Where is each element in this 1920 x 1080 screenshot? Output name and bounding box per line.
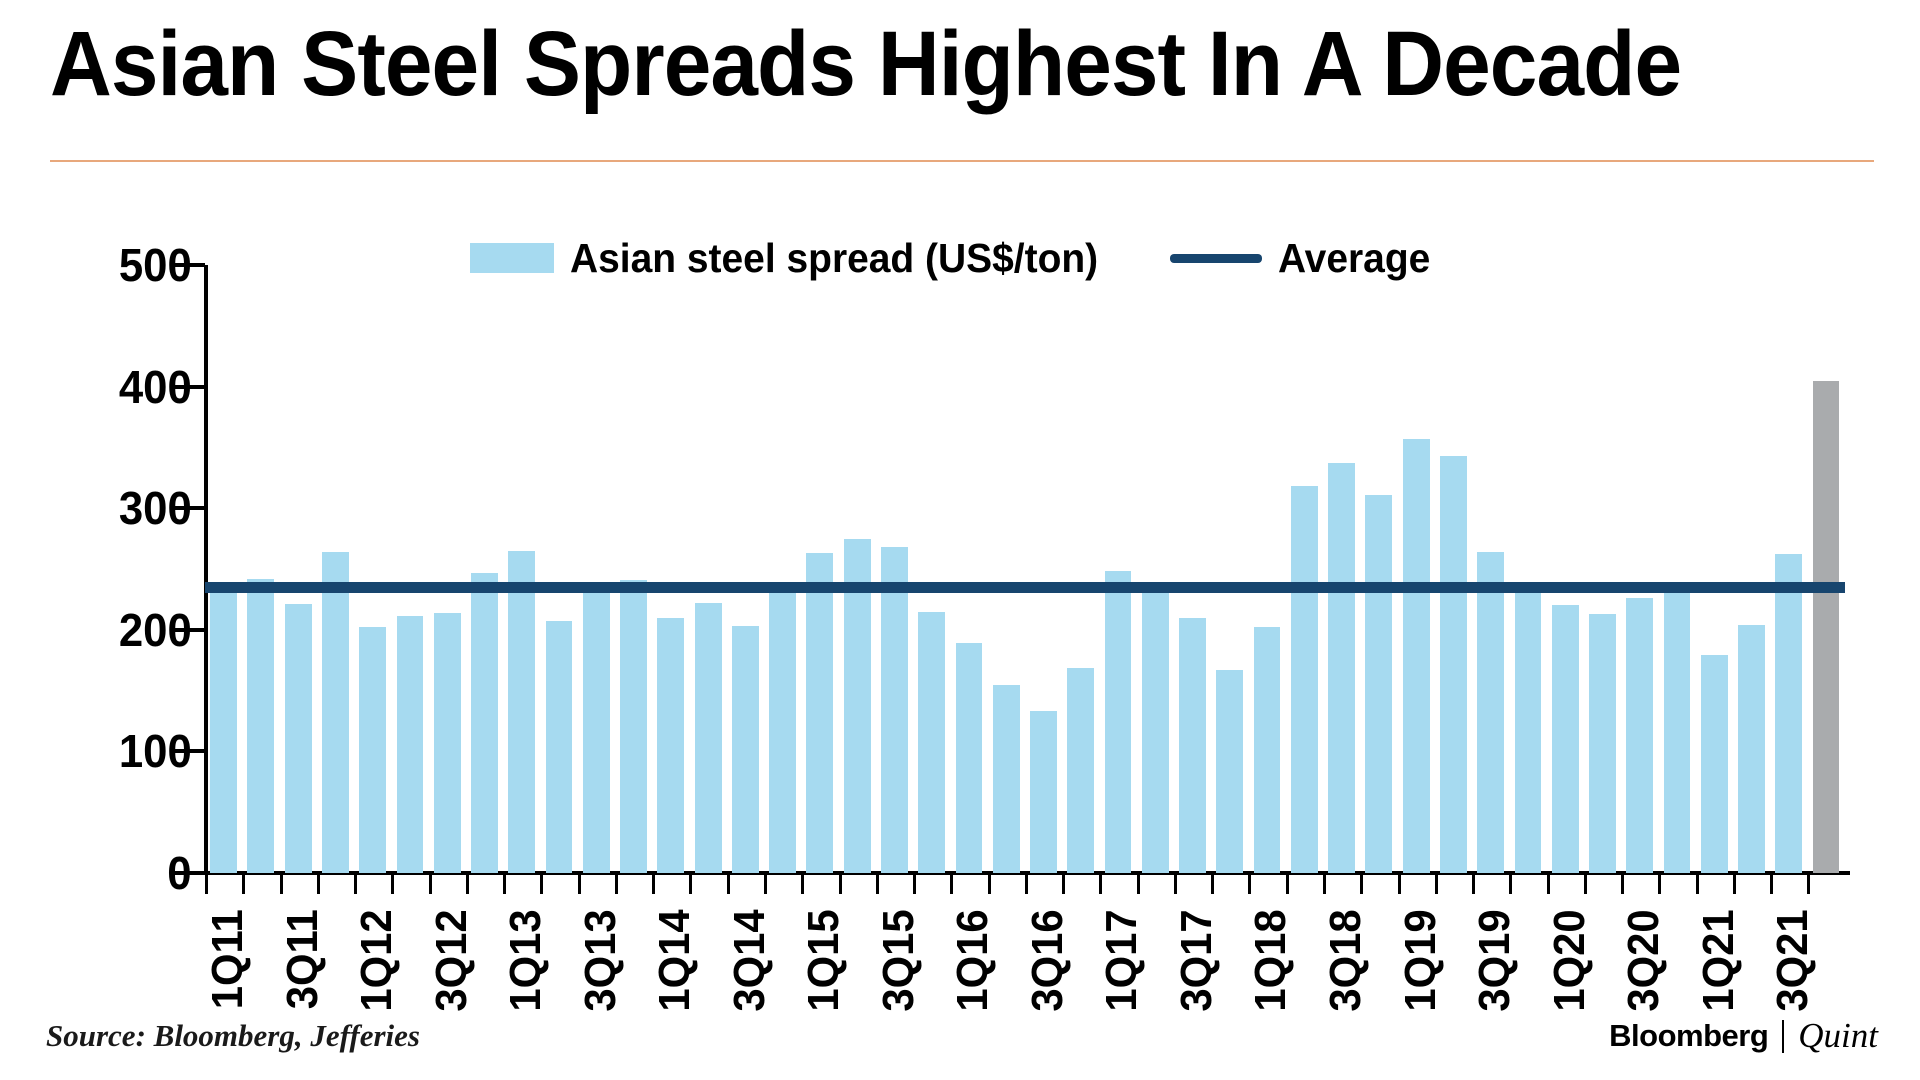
x-axis-tick-mark [652,875,655,894]
x-axis-tick-cell [876,875,913,895]
x-axis-tick-cell [1770,875,1807,895]
bar-cell [1509,265,1546,873]
x-axis-tick-mark [1062,875,1065,894]
bar-cell [1472,265,1509,873]
title-divider [50,160,1874,162]
bar [1440,456,1467,873]
brand-quint-text: Quint [1798,1016,1878,1056]
x-axis-tick-cell [1584,875,1621,895]
bar-cell [1248,265,1285,873]
bar [1216,670,1243,873]
y-axis-tick-mark [172,263,205,267]
x-axis-tick-cell [988,875,1025,895]
x-axis-tick-mark [1323,875,1326,894]
bar [1067,668,1094,874]
bar [956,643,983,873]
x-axis-tick-mark [1248,875,1251,894]
x-axis-tick-cell [727,875,764,895]
x-axis-tick-mark [1174,875,1177,894]
x-axis-tick-mark [1211,875,1214,894]
x-axis-tick-cell [1658,875,1695,895]
x-axis-label-cell [1435,898,1472,1048]
x-axis-label-cell: 3Q16 [1025,898,1062,1048]
x-axis-ticks [205,875,1845,895]
x-axis-tick-cell [578,875,615,895]
x-axis-tick-mark [1509,875,1512,894]
x-axis-tick-mark [1286,875,1289,894]
bar-cell [1323,265,1360,873]
bar [1328,463,1355,873]
x-axis-label-cell: 3Q18 [1323,898,1360,1048]
x-axis-label-cell [1360,898,1397,1048]
x-axis-tick-cell [764,875,801,895]
x-axis-tick-mark [1584,875,1587,894]
x-axis-tick-cell [205,875,242,895]
x-axis-tick-cell [1062,875,1099,895]
x-axis-label-cell: 1Q17 [1099,898,1136,1048]
x-axis-tick-cell [1323,875,1360,895]
bar [620,580,647,873]
bar-cell [1547,265,1584,873]
bar [1738,625,1765,873]
bar [1775,554,1802,873]
x-axis-tick-mark [1472,875,1475,894]
bar-cell [727,265,764,873]
x-axis-tick-cell [1621,875,1658,895]
bar [1142,593,1169,873]
x-axis-tick-cell [1174,875,1211,895]
x-axis-tick-mark [839,875,842,894]
bar-cell [839,265,876,873]
x-axis-tick-cell [503,875,540,895]
x-axis-tick-cell [1733,875,1770,895]
brand-divider [1782,1020,1784,1053]
x-axis-label-cell [466,898,503,1048]
x-axis-tick-cell [1696,875,1733,895]
x-axis-tick-cell [689,875,726,895]
x-axis-tick-cell [429,875,466,895]
bar-cell [1099,265,1136,873]
x-axis-label-cell [1062,898,1099,1048]
bar-cell [205,265,242,873]
x-axis-tick-mark [1621,875,1624,894]
x-axis-label-cell: 1Q18 [1248,898,1285,1048]
bar-cell [391,265,428,873]
x-axis-tick-cell [1211,875,1248,895]
bar [1515,591,1542,873]
y-axis-tick-mark [172,749,205,753]
source-note: Source: Bloomberg, Jefferies [46,1018,420,1054]
x-axis-tick-mark [242,875,245,894]
x-axis-tick-cell [1248,875,1285,895]
x-axis-tick-cell [1398,875,1435,895]
bar-cell [242,265,279,873]
bar-cell [1435,265,1472,873]
x-axis-tick-cell [1547,875,1584,895]
x-axis-tick-mark [540,875,543,894]
bar-cell [578,265,615,873]
chart-area: 0100200300400500 1Q113Q111Q123Q121Q133Q1… [0,250,1920,950]
brand-logo: Bloomberg Quint [1609,1016,1878,1056]
x-axis-tick-mark [1733,875,1736,894]
x-axis-tick-mark [1770,875,1773,894]
x-axis-tick-mark [1547,875,1550,894]
title-block: Asian Steel Spreads Highest In A Decade [50,12,1880,116]
x-axis-tick-mark [1658,875,1661,894]
bar-cell [876,265,913,873]
bar-cell [1398,265,1435,873]
x-axis-tick-mark [354,875,357,894]
brand-bloomberg-text: Bloomberg [1609,1018,1768,1054]
bar [732,626,759,873]
x-axis-tick-cell [1360,875,1397,895]
bar [1589,614,1616,873]
bar [210,584,237,873]
x-axis-tick-cell [652,875,689,895]
chart-page: Asian Steel Spreads Highest In A Decade … [0,0,1920,1080]
x-axis-tick-cell [391,875,428,895]
x-axis-tick-cell [1286,875,1323,895]
bar [1403,439,1430,873]
bar-cell [950,265,987,873]
bar-cell [1286,265,1323,873]
bar [1105,571,1132,873]
bar-cell [466,265,503,873]
bar-cell [280,265,317,873]
x-axis-label-cell: 3Q12 [429,898,466,1048]
x-axis-tick-mark [280,875,283,894]
bar-series [205,265,1845,873]
x-axis-tick-mark [1435,875,1438,894]
bar-cell [1696,265,1733,873]
bar [1291,486,1318,873]
x-axis-tick-mark [1398,875,1401,894]
bar-cell [1733,265,1770,873]
bar [285,604,312,873]
bar [993,685,1020,873]
x-axis-tick-cell [540,875,577,895]
x-axis-tick-cell [242,875,279,895]
x-axis-label-cell: 1Q13 [503,898,540,1048]
average-line [205,582,1845,593]
page-title: Asian Steel Spreads Highest In A Decade [50,12,1752,116]
x-axis-tick-mark [1025,875,1028,894]
x-axis-label-cell [540,898,577,1048]
x-axis-tick-cell [1472,875,1509,895]
bar [918,612,945,873]
x-axis-tick-mark [317,875,320,894]
bar [769,592,796,873]
x-axis-label-cell: 1Q19 [1398,898,1435,1048]
x-axis-tick-mark [1807,875,1810,894]
bar [1254,627,1281,873]
bar-cell [1174,265,1211,873]
bar [322,552,349,873]
x-axis-label-cell: 1Q15 [801,898,838,1048]
y-axis-tick-mark [172,628,205,632]
x-axis-label-cell: 1Q14 [652,898,689,1048]
bar-cell [1770,265,1807,873]
x-axis-label-cell: 1Q20 [1547,898,1584,1048]
bar-cell [354,265,391,873]
bar-cell [1584,265,1621,873]
bar-cell [652,265,689,873]
x-axis-tick-cell [466,875,503,895]
x-axis-label-cell: 3Q13 [578,898,615,1048]
x-axis-tick-mark [205,875,208,894]
x-axis-tick-mark [913,875,916,894]
x-axis-tick-mark [1696,875,1699,894]
bar-cell [1025,265,1062,873]
x-axis-tick-cell [913,875,950,895]
x-axis-tick-mark [578,875,581,894]
bar-cell [1360,265,1397,873]
x-axis-tick-cell [1025,875,1062,895]
bar-cell [764,265,801,873]
x-axis-tick-mark [727,875,730,894]
x-axis-label-cell [1509,898,1546,1048]
bar [359,627,386,873]
bar-cell [689,265,726,873]
y-axis-tick-mark [172,385,205,389]
bar-cell [1658,265,1695,873]
x-axis-tick-mark [764,875,767,894]
x-axis-tick-cell [1509,875,1546,895]
x-axis-tick-cell [1435,875,1472,895]
x-axis-tick-cell [317,875,354,895]
x-axis-label-cell [1137,898,1174,1048]
x-axis-tick-cell [1807,875,1844,895]
bar-cell [1807,265,1844,873]
x-axis-tick-mark [1099,875,1102,894]
x-axis-label-cell: 1Q16 [950,898,987,1048]
bar-cell [540,265,577,873]
bar [471,573,498,873]
x-axis-label-cell: 3Q14 [727,898,764,1048]
bar [397,616,424,873]
bar [1664,592,1691,873]
x-axis-tick-cell [1137,875,1174,895]
y-axis-tick-mark [172,871,205,875]
x-axis-labels: 1Q113Q111Q123Q121Q133Q131Q143Q141Q153Q15… [205,898,1845,1048]
x-axis-tick-cell [615,875,652,895]
bar-cell [317,265,354,873]
bar-cell [1621,265,1658,873]
bar-cell [615,265,652,873]
bar-cell [1211,265,1248,873]
x-axis-tick-cell [839,875,876,895]
bar-cell [1062,265,1099,873]
x-axis-tick-mark [689,875,692,894]
bar [695,603,722,873]
bar [881,547,908,873]
x-axis-tick-cell [1099,875,1136,895]
bar-cell [503,265,540,873]
x-axis-label-cell [689,898,726,1048]
x-axis-tick-cell [354,875,391,895]
x-axis-tick-mark [876,875,879,894]
y-axis-tick-mark [172,506,205,510]
bar-cell [429,265,466,873]
bar [1179,618,1206,873]
x-axis-tick-mark [391,875,394,894]
bar [806,553,833,873]
x-axis-label-cell: 3Q17 [1174,898,1211,1048]
bar [247,579,274,873]
x-axis-label-cell [839,898,876,1048]
x-axis-label-cell [1211,898,1248,1048]
bar-cell [1137,265,1174,873]
bar [1552,605,1579,873]
bar [657,618,684,873]
x-axis-tick-mark [988,875,991,894]
x-axis-label-cell [913,898,950,1048]
x-axis-tick-mark [801,875,804,894]
bar [1813,381,1840,873]
x-axis-tick-mark [1360,875,1363,894]
x-axis-tick-mark [950,875,953,894]
bar [1477,552,1504,873]
bar [1030,711,1057,873]
x-axis-tick-mark [466,875,469,894]
bar [583,593,610,873]
x-axis-label-cell [1286,898,1323,1048]
x-axis-label-cell [988,898,1025,1048]
x-axis-label-cell [764,898,801,1048]
bar [434,613,461,873]
x-axis-tick-cell [280,875,317,895]
x-axis-tick-mark [615,875,618,894]
bar [508,551,535,873]
x-axis-tick-mark [503,875,506,894]
bar-cell [988,265,1025,873]
x-axis-label-cell: 3Q15 [876,898,913,1048]
bar [1365,495,1392,873]
x-axis-label-cell [615,898,652,1048]
bar [546,621,573,873]
bar [1701,655,1728,873]
x-axis-tick-cell [801,875,838,895]
x-axis-tick-mark [429,875,432,894]
x-axis-label-cell: 3Q19 [1472,898,1509,1048]
x-axis-tick-mark [1137,875,1140,894]
bar-cell [801,265,838,873]
bar-cell [913,265,950,873]
x-axis-tick-cell [950,875,987,895]
bar [1626,598,1653,873]
